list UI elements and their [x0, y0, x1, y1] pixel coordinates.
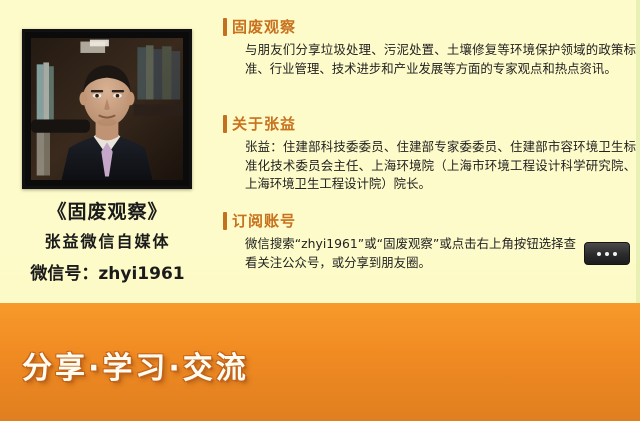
more-options-button[interactable]	[584, 242, 630, 265]
wechat-id-line: 微信号：zhyi1961	[0, 259, 215, 284]
portrait-frame	[22, 29, 192, 189]
section-body: 微信搜索“zhyi1961”或“固废观察”或点击右上角按钮选择查看关注公众号，或…	[245, 235, 640, 272]
section-body: 张益：住建部科技委委员、住建部专家委委员、住建部市容环境卫生标准化技术委员会主任…	[245, 138, 640, 194]
section-heading: 订阅账号	[221, 211, 640, 231]
dot-icon	[597, 252, 601, 256]
bottom-banner: 分享·学习·交流 zhyi1961	[0, 303, 640, 421]
portrait-illustration	[31, 38, 183, 180]
section-body: 与朋友们分享垃圾处理、污泥处置、土壤修复等环境保护领域的政策标准、行业管理、技术…	[245, 41, 640, 78]
promo-card: 《固废观察》 张益微信自媒体 微信号：zhyi1961 固废观察 与朋友们分享垃…	[0, 0, 640, 421]
brand-subtitle: 张益微信自媒体	[0, 228, 215, 252]
section-heading: 固废观察	[221, 17, 640, 37]
dot-icon	[613, 252, 617, 256]
portrait-photo	[31, 38, 183, 180]
section-subscribe: 订阅账号 微信搜索“zhyi1961”或“固废观察”或点击右上角按钮选择查看关注…	[215, 211, 640, 272]
right-column: 固废观察 与朋友们分享垃圾处理、污泥处置、土壤修复等环境保护领域的政策标准、行业…	[215, 0, 640, 303]
section-heading: 关于张益	[221, 114, 640, 134]
section-about-account: 固废观察 与朋友们分享垃圾处理、污泥处置、土壤修复等环境保护领域的政策标准、行业…	[215, 17, 640, 78]
dot-icon	[605, 252, 609, 256]
banner-slogan: 分享·学习·交流	[22, 343, 312, 387]
brand-title: 《固废观察》	[0, 197, 215, 224]
left-column: 《固废观察》 张益微信自媒体 微信号：zhyi1961	[0, 0, 215, 303]
section-about-author: 关于张益 张益：住建部科技委委员、住建部专家委委员、住建部市容环境卫生标准化技术…	[215, 114, 640, 194]
